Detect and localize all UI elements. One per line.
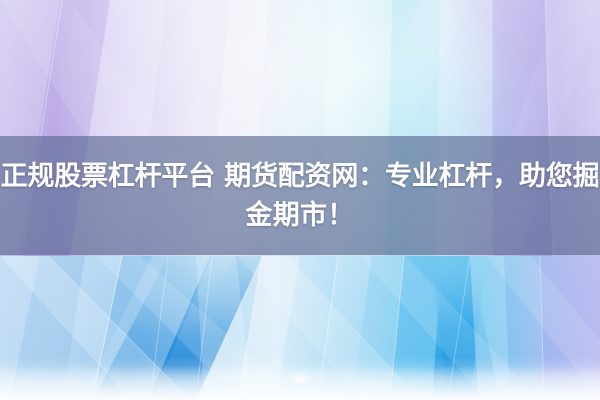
banner-image: 正规股票杠杆平台 期货配资网：专业杠杆，助您掘 金期市！ [0,0,600,400]
caption-line-2: 金期市！ [245,196,354,235]
background-bottom-facets [0,256,600,400]
caption-text-block: 正规股票杠杆平台 期货配资网：专业杠杆，助您掘 金期市！ [0,136,600,255]
caption-line-1: 正规股票杠杆平台 期货配资网：专业杠杆，助您掘 [1,157,600,196]
